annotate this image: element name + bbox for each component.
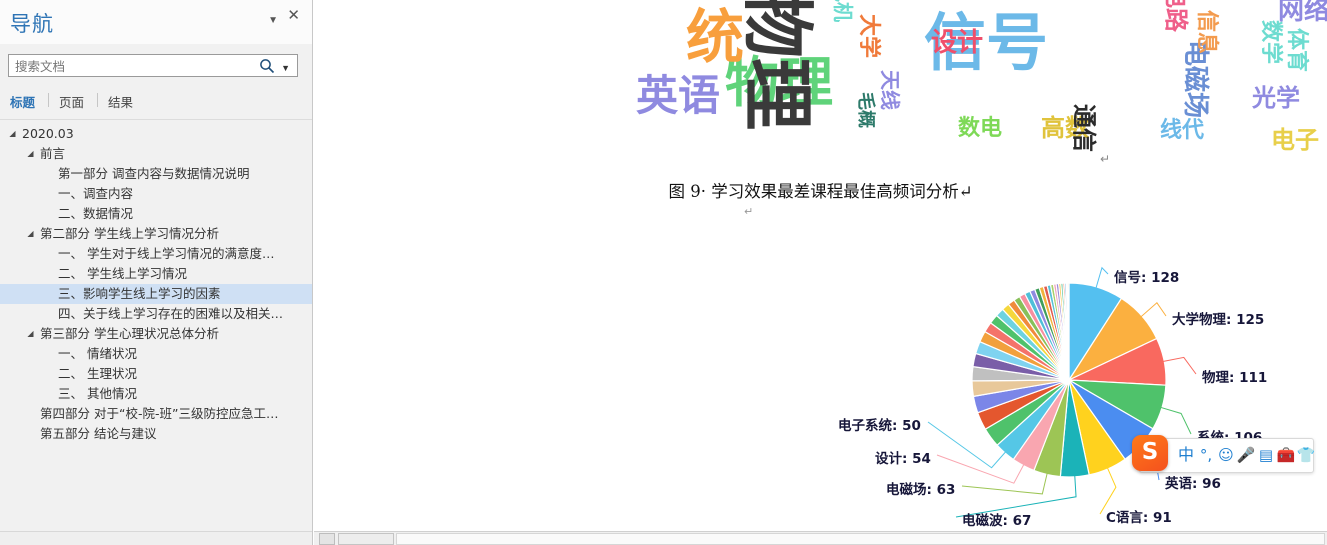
chevron-down-icon[interactable]: ▼	[268, 15, 278, 27]
tree-item[interactable]: 一、调查内容	[0, 184, 313, 204]
pie-leader-line	[1162, 357, 1196, 374]
tree-item[interactable]: 二、 学生线上学习情况	[0, 264, 313, 284]
tree-item-label: 二、数据情况	[58, 204, 133, 224]
tree-item[interactable]: 第一部分 调查内容与数据情况说明	[0, 164, 313, 184]
navigation-tabs: 标题页面结果	[8, 92, 302, 114]
tree-item[interactable]: 二、数据情况	[0, 204, 313, 224]
tree-item[interactable]: 二、 生理状况	[0, 364, 313, 384]
figure-caption: 图 9· 学习效果最差课程最佳高频词分析↵	[314, 178, 1327, 202]
word-cloud-term: 数电	[958, 110, 1002, 142]
chevron-expanded-icon[interactable]: ◢	[26, 224, 35, 244]
word-cloud-figure: 信号物理物理统英语设计大学天线毛概数电高数通信线代电子光学电磁场网络数学体育信息…	[314, 0, 1327, 155]
tree-item-label: 二、 生理状况	[58, 364, 137, 384]
pie-slice-label: 设计: 54	[875, 447, 1095, 467]
tree-item[interactable]: ◢第二部分 学生线上学习情况分析	[0, 224, 313, 244]
navigation-pane-footer	[0, 531, 313, 545]
word-cloud-term: 信息	[1193, 10, 1225, 54]
word-cloud-term: 毛概	[854, 92, 880, 128]
tree-item[interactable]: 三、 其他情况	[0, 384, 313, 404]
tree-item[interactable]: ◢2020.03	[0, 124, 313, 144]
tab-separator	[48, 93, 49, 107]
chevron-expanded-icon[interactable]: ◢	[26, 144, 35, 164]
pie-leader-line	[1096, 268, 1108, 289]
pie-leader-line	[1140, 303, 1166, 318]
tree-item-label: 前言	[40, 144, 65, 164]
tree-item-label: 二、 学生线上学习情况	[58, 264, 187, 284]
pie-slice-label: 大学物理: 125	[1172, 308, 1327, 328]
navigation-header: 导航 ▼ ✕	[0, 0, 312, 44]
word-cloud-term: 设计	[931, 22, 983, 59]
pie-leader-line	[1160, 407, 1191, 434]
pie-slice-label: 电子系统: 50	[838, 414, 1058, 434]
scrollbar-thumb[interactable]	[338, 533, 394, 545]
word-cloud-term: 电子	[1271, 120, 1319, 155]
tab-headings[interactable]: 标题	[10, 92, 35, 111]
paragraph-mark: ↵	[1100, 152, 1110, 166]
word-cloud-term: 电路	[1161, 0, 1196, 32]
tree-item-label: 2020.03	[22, 124, 74, 144]
pie-slice-label: 物理: 111	[1202, 366, 1327, 386]
search-box[interactable]: ▼	[8, 54, 298, 77]
search-icon[interactable]	[259, 58, 275, 74]
chevron-expanded-icon[interactable]: ◢	[8, 124, 17, 144]
pie-chart-svg: 信号: 128大学物理: 125物理: 111系统: 106英语: 96C语言:…	[314, 228, 1327, 530]
word-cloud-term: 英语	[636, 62, 720, 123]
paragraph-mark: ↵	[744, 205, 753, 218]
word-cloud-term: 电机	[830, 0, 859, 22]
tree-item[interactable]: ◢前言	[0, 144, 313, 164]
tree-item-label: 第四部分 对于“校-院-班”三级防控应急工…	[40, 404, 278, 424]
navigation-pane: 导航 ▼ ✕ ▼ 标题页面结果 ◢2020.03◢前言第一部分 调查内容与数据情…	[0, 0, 313, 545]
skin-icon[interactable]: 👕	[1294, 443, 1318, 467]
tree-item[interactable]: 三、影响学生线上学习的因素	[0, 284, 313, 304]
tree-item[interactable]: 第五部分 结论与建议	[0, 424, 313, 444]
tree-item[interactable]: 第四部分 对于“校-院-班”三级防控应急工…	[0, 404, 313, 424]
scroll-left-button[interactable]	[319, 533, 335, 545]
tree-item[interactable]: 一、 情绪状况	[0, 344, 313, 364]
word-cloud-term: 天线	[877, 70, 906, 110]
tree-item-label: 三、 其他情况	[58, 384, 137, 404]
word-cloud-term: 体育	[1283, 28, 1315, 72]
tree-item-label: 一、调查内容	[58, 184, 133, 204]
pie-slice-label: 电磁波: 67	[962, 509, 1182, 529]
search-options-chevron-icon[interactable]: ▼	[281, 63, 290, 73]
word-cloud-term: 物理	[731, 0, 836, 130]
tab-results[interactable]: 结果	[108, 92, 133, 111]
tabs-divider	[0, 119, 313, 120]
word-cloud-term: 光学	[1252, 78, 1300, 113]
tree-item-label: 第二部分 学生线上学习情况分析	[40, 224, 219, 244]
search-input[interactable]	[13, 58, 257, 75]
headings-tree: ◢2020.03◢前言第一部分 调查内容与数据情况说明一、调查内容二、数据情况◢…	[0, 124, 313, 454]
chevron-expanded-icon[interactable]: ◢	[26, 324, 35, 344]
tree-item-label: 一、 情绪状况	[58, 344, 137, 364]
tab-pages[interactable]: 页面	[59, 92, 84, 111]
sogou-logo-icon[interactable]: S	[1132, 435, 1168, 471]
tree-item-label: 一、 学生对于线上学习情况的满意度…	[58, 244, 274, 264]
tree-item-label: 第一部分 调查内容与数据情况说明	[58, 164, 249, 184]
ime-toolbar: S 中°,☺🎤▤🧰👕	[1139, 438, 1314, 473]
scrollbar-track[interactable]	[396, 533, 1325, 545]
pie-chart-figure: 信号: 128大学物理: 125物理: 111系统: 106英语: 96C语言:…	[314, 228, 1327, 530]
tree-item-label: 三、影响学生线上学习的因素	[58, 284, 221, 304]
close-icon[interactable]: ✕	[287, 10, 300, 22]
pie-slice-label: 信号: 128	[1114, 266, 1327, 286]
tree-item-label: 第五部分 结论与建议	[40, 424, 156, 444]
tree-item[interactable]: 一、 学生对于线上学习情况的满意度…	[0, 244, 313, 264]
tree-item[interactable]: 四、关于线上学习存在的困难以及相关…	[0, 304, 313, 324]
pie-slice-label: 英语: 96	[1165, 472, 1327, 492]
pie-slice-label: 电磁场: 63	[886, 478, 1106, 498]
tree-item-label: 第三部分 学生心理状况总体分析	[40, 324, 219, 344]
tree-item[interactable]: ◢第三部分 学生心理状况总体分析	[0, 324, 313, 344]
word-cloud-term: 大学	[855, 14, 887, 58]
page-title: 导航	[10, 8, 54, 38]
tree-item-label: 四、关于线上学习存在的困难以及相关…	[58, 304, 283, 324]
word-cloud-term: 通信	[1069, 104, 1104, 152]
horizontal-scrollbar[interactable]	[314, 531, 1327, 545]
tab-separator	[97, 93, 98, 107]
